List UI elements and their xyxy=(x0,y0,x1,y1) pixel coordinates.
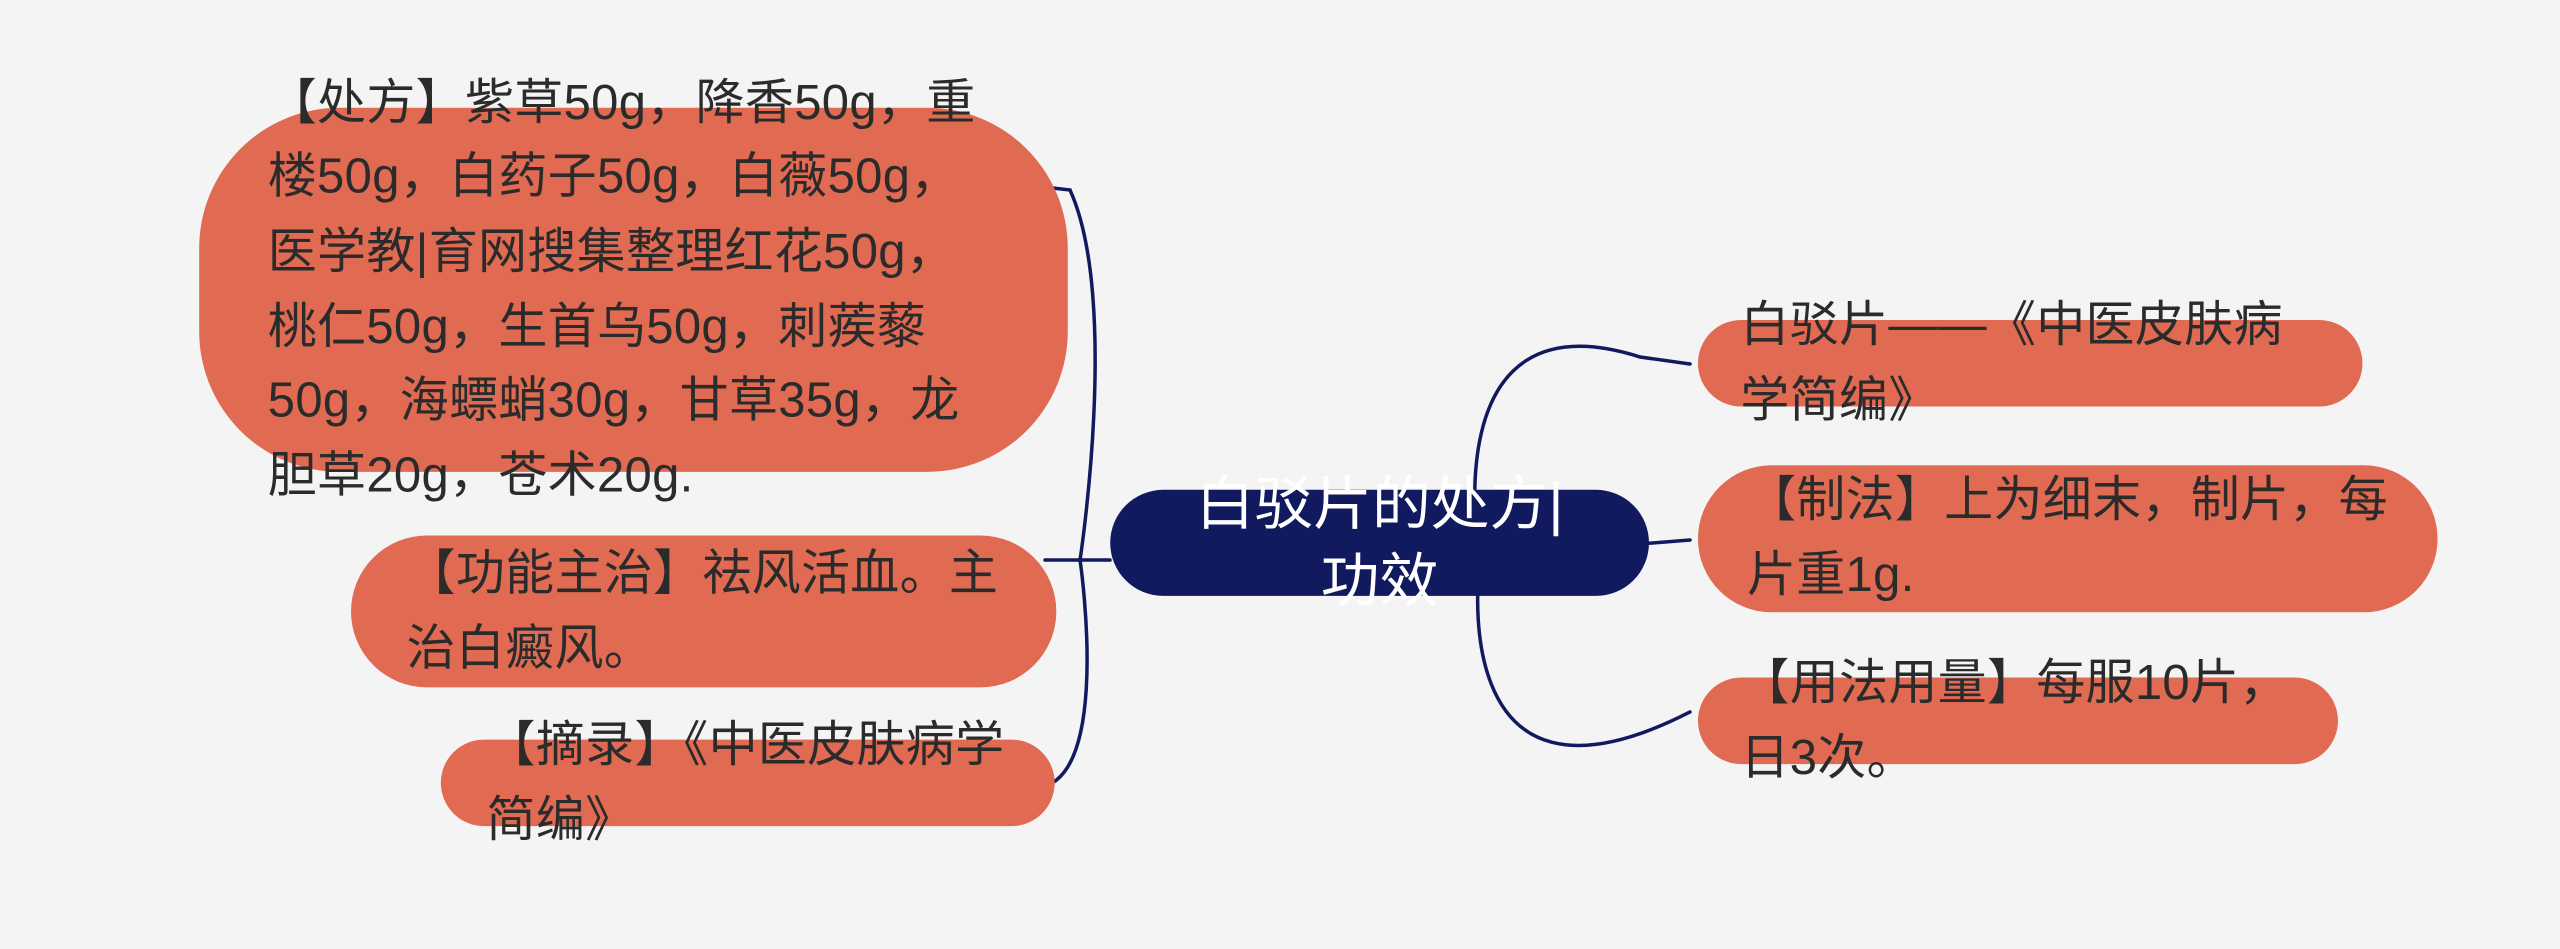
branch-node-prescription-label: 【处方】紫草50g，降香50g，重楼50g，白药子50g，白薇50g，医学教|育… xyxy=(268,66,1003,513)
branch-node-method-label: 【制法】上为细末，制片，每片重1g. xyxy=(1747,464,2389,613)
branch-node-dosage[interactable]: 【用法用量】每服10片，日3次。 xyxy=(1698,678,2338,765)
branch-node-dosage-label: 【用法用量】每服10片，日3次。 xyxy=(1740,646,2295,795)
mindmap-canvas: 【处方】紫草50g，降香50g，重楼50g，白药子50g，白薇50g，医学教|育… xyxy=(0,0,2560,949)
branch-node-title-right-label: 白驳片——《中医皮肤病学简编》 xyxy=(1740,289,2320,438)
connector-title-right-stub xyxy=(1640,357,1690,364)
connector-prescription xyxy=(1070,190,1095,560)
branch-node-method[interactable]: 【制法】上为细末，制片，每片重1g. xyxy=(1698,465,2438,612)
central-node-label: 白驳片的处方|功效 xyxy=(1169,466,1590,619)
branch-node-title-right[interactable]: 白驳片——《中医皮肤病学简编》 xyxy=(1698,320,2362,407)
branch-node-function-label: 【功能主治】祛风活血。主治白癜风。 xyxy=(407,537,1001,686)
branch-node-prescription[interactable]: 【处方】紫草50g，降香50g，重楼50g，白药子50g，白薇50g，医学教|育… xyxy=(199,108,1068,472)
central-node[interactable]: 白驳片的处方|功效 xyxy=(1110,490,1649,596)
branch-node-function[interactable]: 【功能主治】祛风活血。主治白癜风。 xyxy=(351,536,1056,688)
branch-node-source[interactable]: 【摘录】《中医皮肤病学简编》 xyxy=(441,740,1055,827)
branch-node-source-label: 【摘录】《中医皮肤病学简编》 xyxy=(487,708,1009,857)
